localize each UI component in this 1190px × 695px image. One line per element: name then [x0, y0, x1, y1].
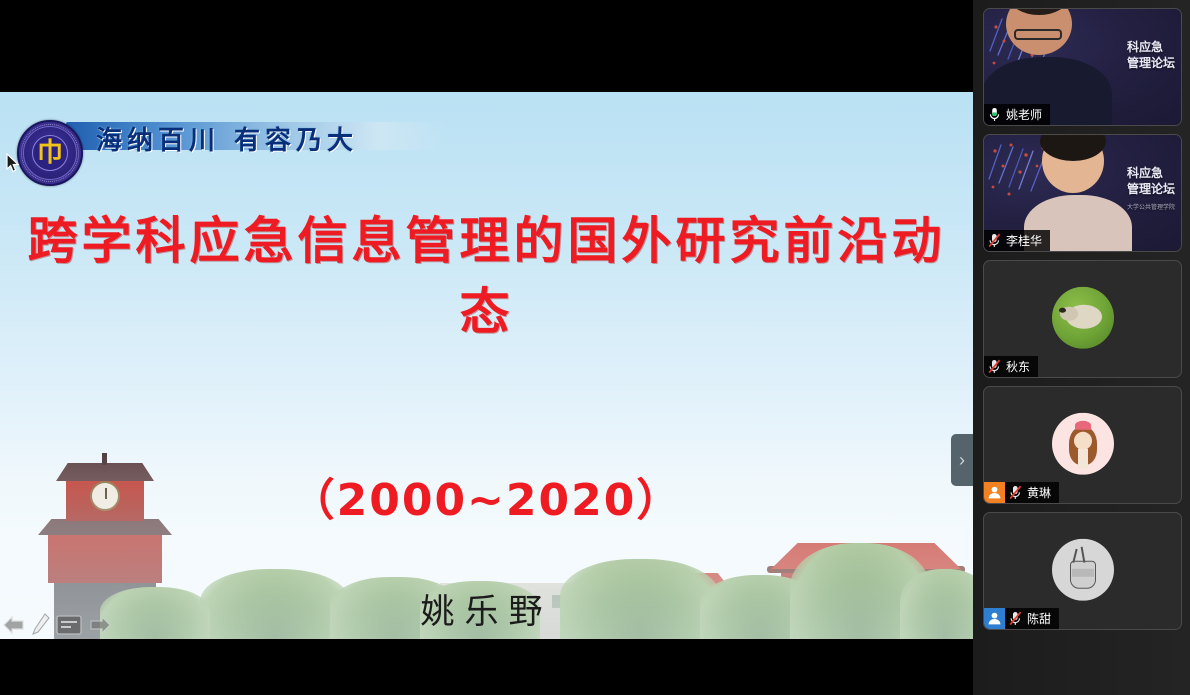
- participant-nameplate: 黄琳: [984, 482, 1059, 503]
- video-background-branding: 科应急 管理论坛: [1127, 39, 1175, 71]
- participant-tile[interactable]: 陈甜: [983, 512, 1182, 630]
- slide-title: 跨学科应急信息管理的国外研究前沿动态: [0, 206, 973, 348]
- participant-tile[interactable]: 科应急 管理论坛 姚老师: [983, 8, 1182, 126]
- prev-slide-icon[interactable]: [2, 614, 26, 636]
- brand-line-1: 科应急: [1127, 166, 1163, 180]
- avatar: [1052, 539, 1114, 601]
- slide-date: 2020年6月: [0, 635, 973, 639]
- participant-name: 秋东: [1004, 358, 1038, 375]
- logo-glyph: 巾: [37, 140, 63, 166]
- mic-muted-icon: [984, 359, 1004, 374]
- app-root: 巾 海纳百川 有容乃大: [0, 0, 1190, 695]
- participant-name: 黄琳: [1025, 484, 1059, 501]
- participant-tile[interactable]: 秋东: [983, 260, 1182, 378]
- video-background-branding: 科应急 管理论坛 大学公共管理学院: [1127, 165, 1175, 212]
- next-slide-icon[interactable]: [88, 614, 112, 636]
- participant-name: 陈甜: [1025, 610, 1059, 627]
- participant-nameplate: 李桂华: [984, 230, 1050, 251]
- participant-tile[interactable]: 科应急 管理论坛 大学公共管理学院 李桂华: [983, 134, 1182, 252]
- panel-collapse-handle[interactable]: ›: [951, 434, 973, 486]
- mic-muted-icon: [1005, 611, 1025, 626]
- university-motto: 海纳百川 有容乃大: [96, 120, 358, 157]
- slide-year-range: （2000~2020）: [0, 464, 973, 528]
- avatar: [1052, 287, 1114, 349]
- presentation-slide[interactable]: 巾 海纳百川 有容乃大: [0, 92, 973, 639]
- mouse-cursor: [6, 153, 20, 178]
- participant-name: 李桂华: [1004, 232, 1050, 249]
- pen-tool-icon[interactable]: [32, 613, 50, 637]
- participant-sidebar[interactable]: 科应急 管理论坛 姚老师: [973, 0, 1190, 695]
- participant-tile[interactable]: 黄琳: [983, 386, 1182, 504]
- mic-on-icon: [984, 107, 1004, 122]
- participant-nameplate: 秋东: [984, 356, 1038, 377]
- avatar: [1052, 413, 1114, 475]
- chevron-right-icon: ›: [959, 451, 965, 469]
- host-badge-icon: [984, 608, 1005, 629]
- brand-line-2: 管理论坛: [1127, 56, 1175, 70]
- sichuan-university-logo: 巾: [17, 120, 83, 186]
- slide-menu-icon[interactable]: [56, 614, 82, 636]
- participant-nameplate: 姚老师: [984, 104, 1050, 125]
- brand-line-2: 管理论坛: [1127, 182, 1175, 196]
- slide-author: 姚乐野: [0, 584, 973, 633]
- slide-header: 巾 海纳百川 有容乃大: [0, 104, 973, 168]
- presentation-controls[interactable]: [2, 613, 112, 637]
- participant-name: 姚老师: [1004, 106, 1050, 123]
- mic-muted-icon: [1005, 485, 1025, 500]
- participant-nameplate: 陈甜: [984, 608, 1059, 629]
- host-badge-icon: [984, 482, 1005, 503]
- mic-muted-icon: [984, 233, 1004, 248]
- shared-screen-area[interactable]: 巾 海纳百川 有容乃大: [0, 0, 973, 695]
- brand-subtext: 大学公共管理学院: [1127, 204, 1175, 212]
- brand-line-1: 科应急: [1127, 40, 1163, 54]
